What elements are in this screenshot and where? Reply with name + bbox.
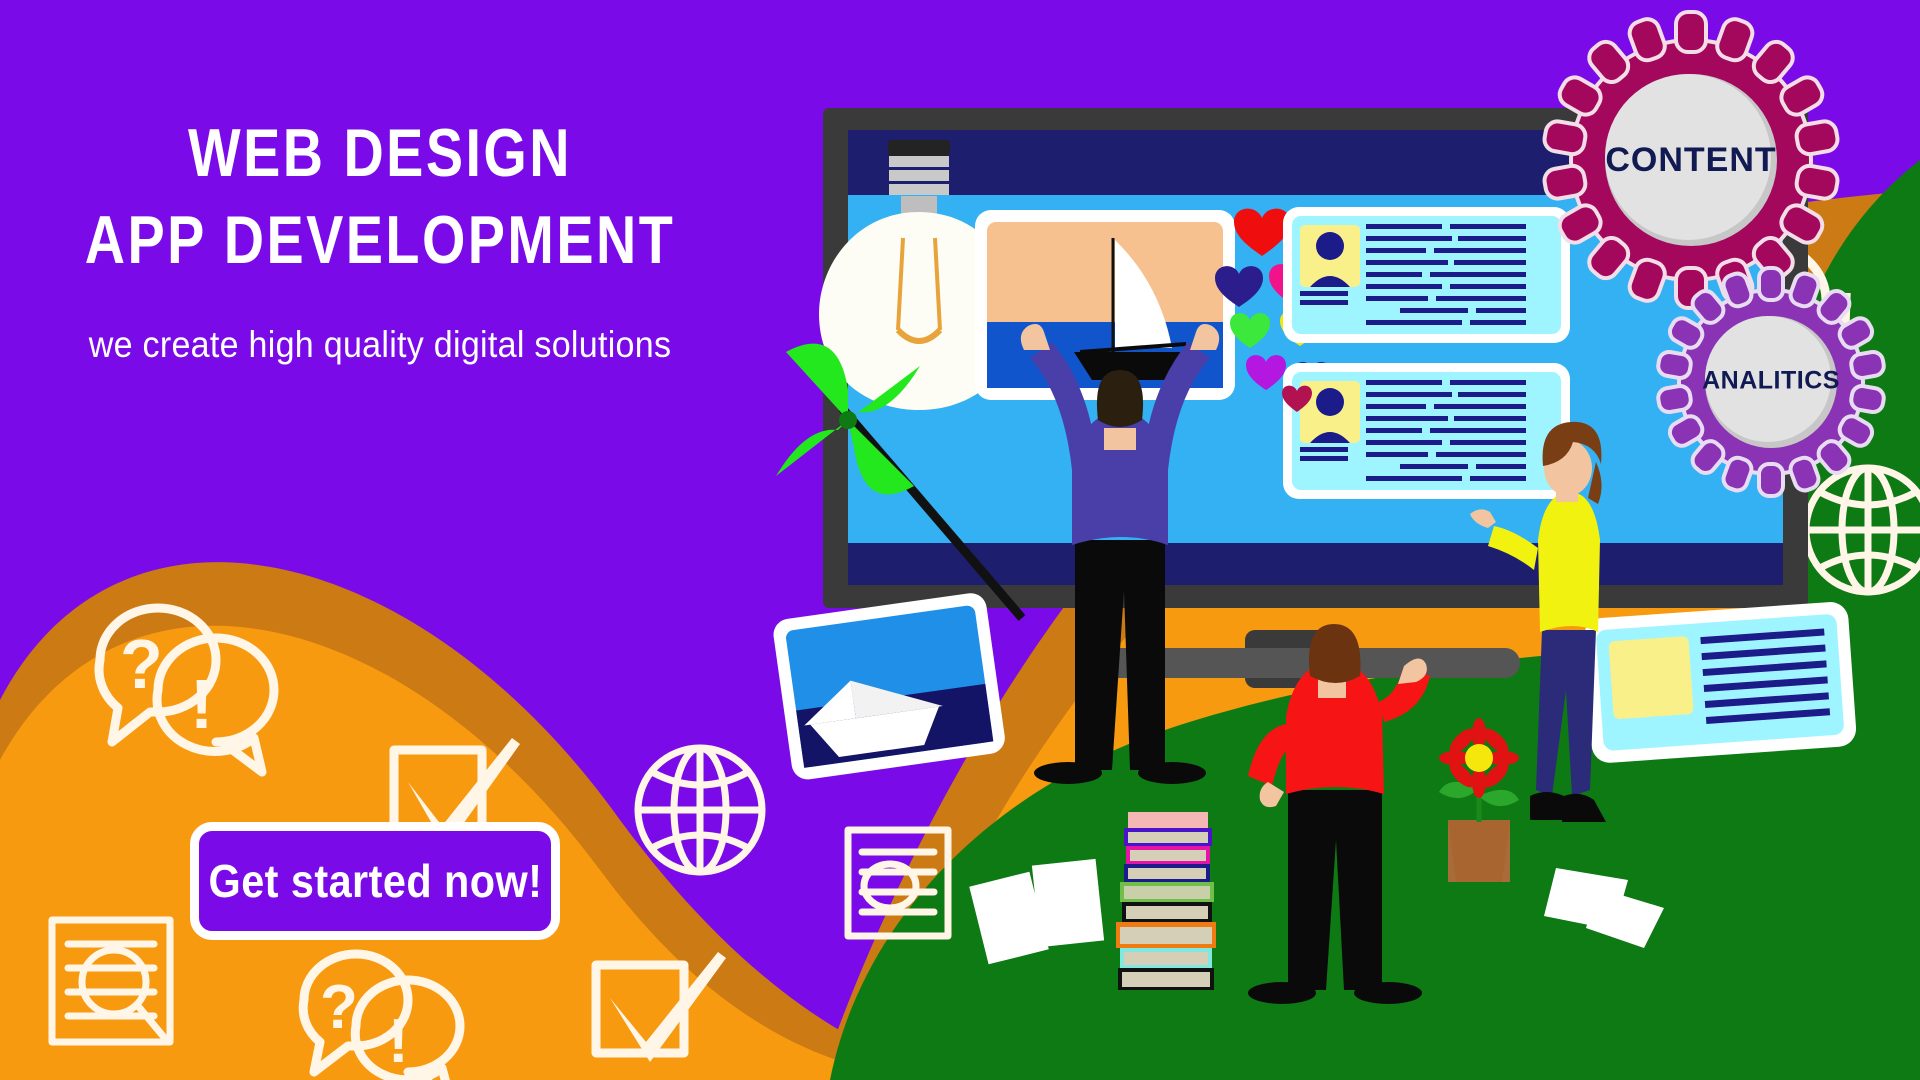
banner-illustration: ? ! ? ! ! <box>0 0 1920 1080</box>
headline-block: WEB DESIGN APP DEVELOPMENT we create hig… <box>0 110 760 366</box>
badge-analitics[interactable]: ANALITICS <box>1657 268 1886 496</box>
badge-content[interactable]: CONTENT <box>1543 12 1840 308</box>
headline-line-2: APP DEVELOPMENT <box>68 197 691 284</box>
get-started-button-label: Get started now! <box>208 854 542 908</box>
get-started-button[interactable]: Get started now! <box>190 822 560 940</box>
headline-line-1: WEB DESIGN <box>68 110 691 197</box>
badge-analitics-label: ANALITICS <box>1702 367 1840 395</box>
subheadline: we create high quality digital solutions <box>30 324 729 366</box>
badge-content-label: CONTENT <box>1605 141 1776 179</box>
